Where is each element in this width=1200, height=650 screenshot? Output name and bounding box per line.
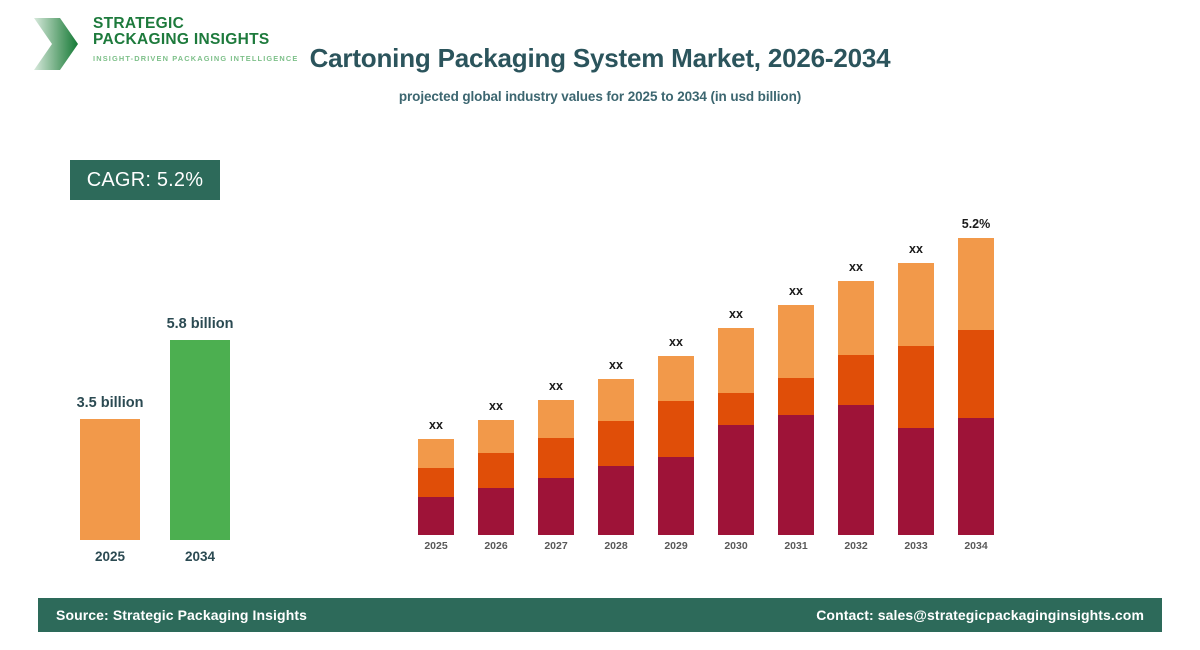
stacked-bar-segment-segment-1 xyxy=(898,428,934,535)
stacked-bar: xx2025 xyxy=(418,439,454,535)
stacked-bar-segment-segment-2 xyxy=(538,438,574,478)
stacked-bar: 5.2%2034 xyxy=(958,238,994,535)
stacked-bar-segment-segment-2 xyxy=(898,346,934,428)
logo-line-2: PACKAGING INSIGHTS xyxy=(93,32,298,48)
stacked-bar-label: xx xyxy=(489,399,503,413)
stacked-bar: xx2029 xyxy=(658,356,694,535)
stacked-bar-segment-segment-3 xyxy=(418,439,454,468)
stacked-bar-segment-segment-2 xyxy=(718,393,754,425)
logo-line-1: STRATEGIC xyxy=(93,16,298,32)
stacked-bar-label: xx xyxy=(609,358,623,372)
page-subtitle: projected global industry values for 202… xyxy=(300,89,900,104)
market-value-comparison-chart: 3.5 billion20255.8 billion2034 xyxy=(40,300,300,575)
stacked-bar-segment-segment-2 xyxy=(658,401,694,457)
stacked-bar-segment-segment-1 xyxy=(538,478,574,535)
stacked-bar-year: 2027 xyxy=(544,540,567,552)
company-logo: STRATEGIC PACKAGING INSIGHTS INSIGHT-DRI… xyxy=(30,14,290,78)
stacked-bar-year: 2033 xyxy=(904,540,927,552)
stacked-bar-segment-segment-3 xyxy=(958,238,994,330)
stacked-bar-label: 5.2% xyxy=(962,217,991,231)
stacked-bar-segment-segment-2 xyxy=(778,378,814,415)
footer-source: Source: Strategic Packaging Insights xyxy=(56,607,307,623)
stacked-bar: xx2028 xyxy=(598,379,634,535)
stacked-bar-year: 2030 xyxy=(724,540,747,552)
comparison-bar-value: 3.5 billion xyxy=(77,395,144,411)
comparison-bar-year: 2034 xyxy=(185,549,215,564)
stacked-bar-year: 2034 xyxy=(964,540,987,552)
stacked-bar-year: 2032 xyxy=(844,540,867,552)
stacked-bar-segment-segment-1 xyxy=(958,418,994,535)
stacked-bar-label: xx xyxy=(729,307,743,321)
stacked-bar-label: xx xyxy=(789,284,803,298)
comparison-bar-fill xyxy=(170,340,230,540)
comparison-bar-value: 5.8 billion xyxy=(167,316,234,332)
chevron-right-icon xyxy=(30,16,82,72)
stacked-bar-year: 2031 xyxy=(784,540,807,552)
stacked-bar-year: 2025 xyxy=(424,540,447,552)
title-block: Cartoning Packaging System Market, 2026-… xyxy=(300,40,900,104)
stacked-bar: xx2027 xyxy=(538,400,574,535)
comparison-bar: 3.5 billion2025 xyxy=(80,419,140,540)
stacked-bar-year: 2026 xyxy=(484,540,507,552)
comparison-bar-fill xyxy=(80,419,140,540)
stacked-bar-segment-segment-1 xyxy=(778,415,814,535)
stacked-bar: xx2031 xyxy=(778,305,814,535)
logo-wordmark: STRATEGIC PACKAGING INSIGHTS INSIGHT-DRI… xyxy=(93,16,298,63)
footer-bar: Source: Strategic Packaging Insights Con… xyxy=(38,598,1162,632)
stacked-bar: xx2033 xyxy=(898,263,934,535)
stacked-bar-segment-segment-3 xyxy=(478,420,514,453)
stacked-bar-segment-segment-2 xyxy=(958,330,994,418)
footer-contact: Contact: sales@strategicpackaginginsight… xyxy=(816,607,1144,623)
stacked-bar-segment-segment-2 xyxy=(478,453,514,488)
stacked-bar: xx2026 xyxy=(478,420,514,535)
stacked-bar-segment-segment-1 xyxy=(838,405,874,535)
page-title: Cartoning Packaging System Market, 2026-… xyxy=(300,40,900,76)
stacked-bar-segment-segment-2 xyxy=(418,468,454,497)
stacked-bar: xx2032 xyxy=(838,281,874,535)
stacked-bar-segment-segment-3 xyxy=(598,379,634,421)
stacked-bar-label: xx xyxy=(849,260,863,274)
stacked-bar-segment-segment-3 xyxy=(778,305,814,378)
stacked-bar-segment-segment-1 xyxy=(598,466,634,535)
cagr-badge: CAGR: 5.2% xyxy=(70,160,220,200)
stacked-bar-segment-segment-1 xyxy=(478,488,514,535)
stacked-bar-segment-segment-1 xyxy=(718,425,754,535)
stacked-bar-segment-segment-3 xyxy=(538,400,574,438)
stacked-bar-label: xx xyxy=(429,418,443,432)
projected-market-forecast-chart: xx2025xx2026xx2027xx2028xx2029xx2030xx20… xyxy=(400,200,1020,560)
stacked-bar-year: 2029 xyxy=(664,540,687,552)
stacked-bar-segment-segment-1 xyxy=(658,457,694,535)
stacked-bar-label: xx xyxy=(669,335,683,349)
stacked-bar-segment-segment-3 xyxy=(718,328,754,393)
stacked-bar-label: xx xyxy=(549,379,563,393)
stacked-bar-segment-segment-1 xyxy=(418,497,454,535)
stacked-bar: xx2030 xyxy=(718,328,754,535)
stacked-bar-segment-segment-2 xyxy=(838,355,874,405)
stacked-bar-segment-segment-3 xyxy=(898,263,934,346)
stacked-bar-label: xx xyxy=(909,242,923,256)
stacked-bar-segment-segment-2 xyxy=(598,421,634,466)
stacked-bar-year: 2028 xyxy=(604,540,627,552)
logo-tagline: INSIGHT-DRIVEN PACKAGING INTELLIGENCE xyxy=(93,54,298,63)
stacked-bar-segment-segment-3 xyxy=(838,281,874,355)
stacked-bar-segment-segment-3 xyxy=(658,356,694,401)
comparison-bar: 5.8 billion2034 xyxy=(170,340,230,540)
comparison-bar-year: 2025 xyxy=(95,549,125,564)
